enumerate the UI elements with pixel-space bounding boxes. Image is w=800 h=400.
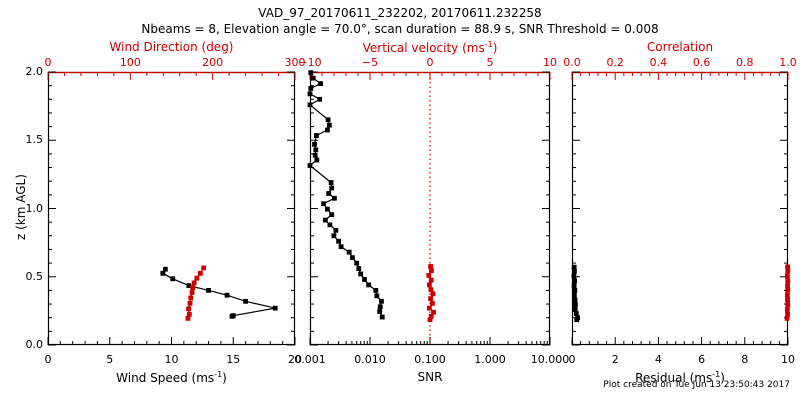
x-tick-2: 2 xyxy=(612,354,619,365)
y-tick-0.5: 0.5 xyxy=(26,271,44,282)
top-x-tick--10: −10 xyxy=(298,57,321,68)
x-tick-4: 4 xyxy=(655,354,662,365)
plot-canvas: VAD_97_20170611_232202, 20170611.232258 … xyxy=(0,0,800,400)
x-tick-0.001: 0.001 xyxy=(294,354,326,365)
y-tick-0.0: 0.0 xyxy=(26,339,44,350)
x-tick-1.000: 1.000 xyxy=(474,354,506,365)
x-tick-0.010: 0.010 xyxy=(354,354,386,365)
x-axis-title-1: Wind Speed (ms-1) xyxy=(116,371,227,384)
top-x-tick-0: 0 xyxy=(45,57,52,68)
top-x-tick--5: −5 xyxy=(362,57,378,68)
top-x-tick-10: 10 xyxy=(543,57,557,68)
x-tick-5: 5 xyxy=(106,354,113,365)
x-tick-10.000: 10.000 xyxy=(531,354,570,365)
top-x-tick-0.4: 0.4 xyxy=(650,57,668,68)
x-tick-8: 8 xyxy=(741,354,748,365)
x-tick-10: 10 xyxy=(781,354,795,365)
y-tick-1.0: 1.0 xyxy=(26,203,44,214)
top-x-tick-0: 0 xyxy=(427,57,434,68)
x-tick-0.100: 0.100 xyxy=(414,354,446,365)
top-x-axis-title-3: Correlation xyxy=(647,41,713,53)
x-tick-0: 0 xyxy=(45,354,52,365)
top-x-tick-200: 200 xyxy=(202,57,223,68)
top-x-tick-0.6: 0.6 xyxy=(693,57,711,68)
top-x-tick-0.8: 0.8 xyxy=(736,57,754,68)
top-x-tick-100: 100 xyxy=(120,57,141,68)
y-tick-2.0: 2.0 xyxy=(26,66,44,77)
x-axis-title-2: SNR xyxy=(418,371,443,383)
x-tick-6: 6 xyxy=(698,354,705,365)
y-tick-1.5: 1.5 xyxy=(26,134,44,145)
top-x-tick-1.0: 1.0 xyxy=(779,57,797,68)
top-x-axis-title-1: Wind Direction (deg) xyxy=(110,41,234,53)
x-tick-10: 10 xyxy=(165,354,179,365)
x-tick-15: 15 xyxy=(226,354,240,365)
x-axis-title-3: Residual (ms-1) xyxy=(635,371,725,384)
top-x-axis-title-2: Vertical velocity (ms-1) xyxy=(363,41,498,54)
x-tick-0: 0 xyxy=(569,354,576,365)
top-x-tick-5: 5 xyxy=(487,57,494,68)
top-x-tick-0.2: 0.2 xyxy=(606,57,624,68)
top-x-tick-0.0: 0.0 xyxy=(563,57,581,68)
